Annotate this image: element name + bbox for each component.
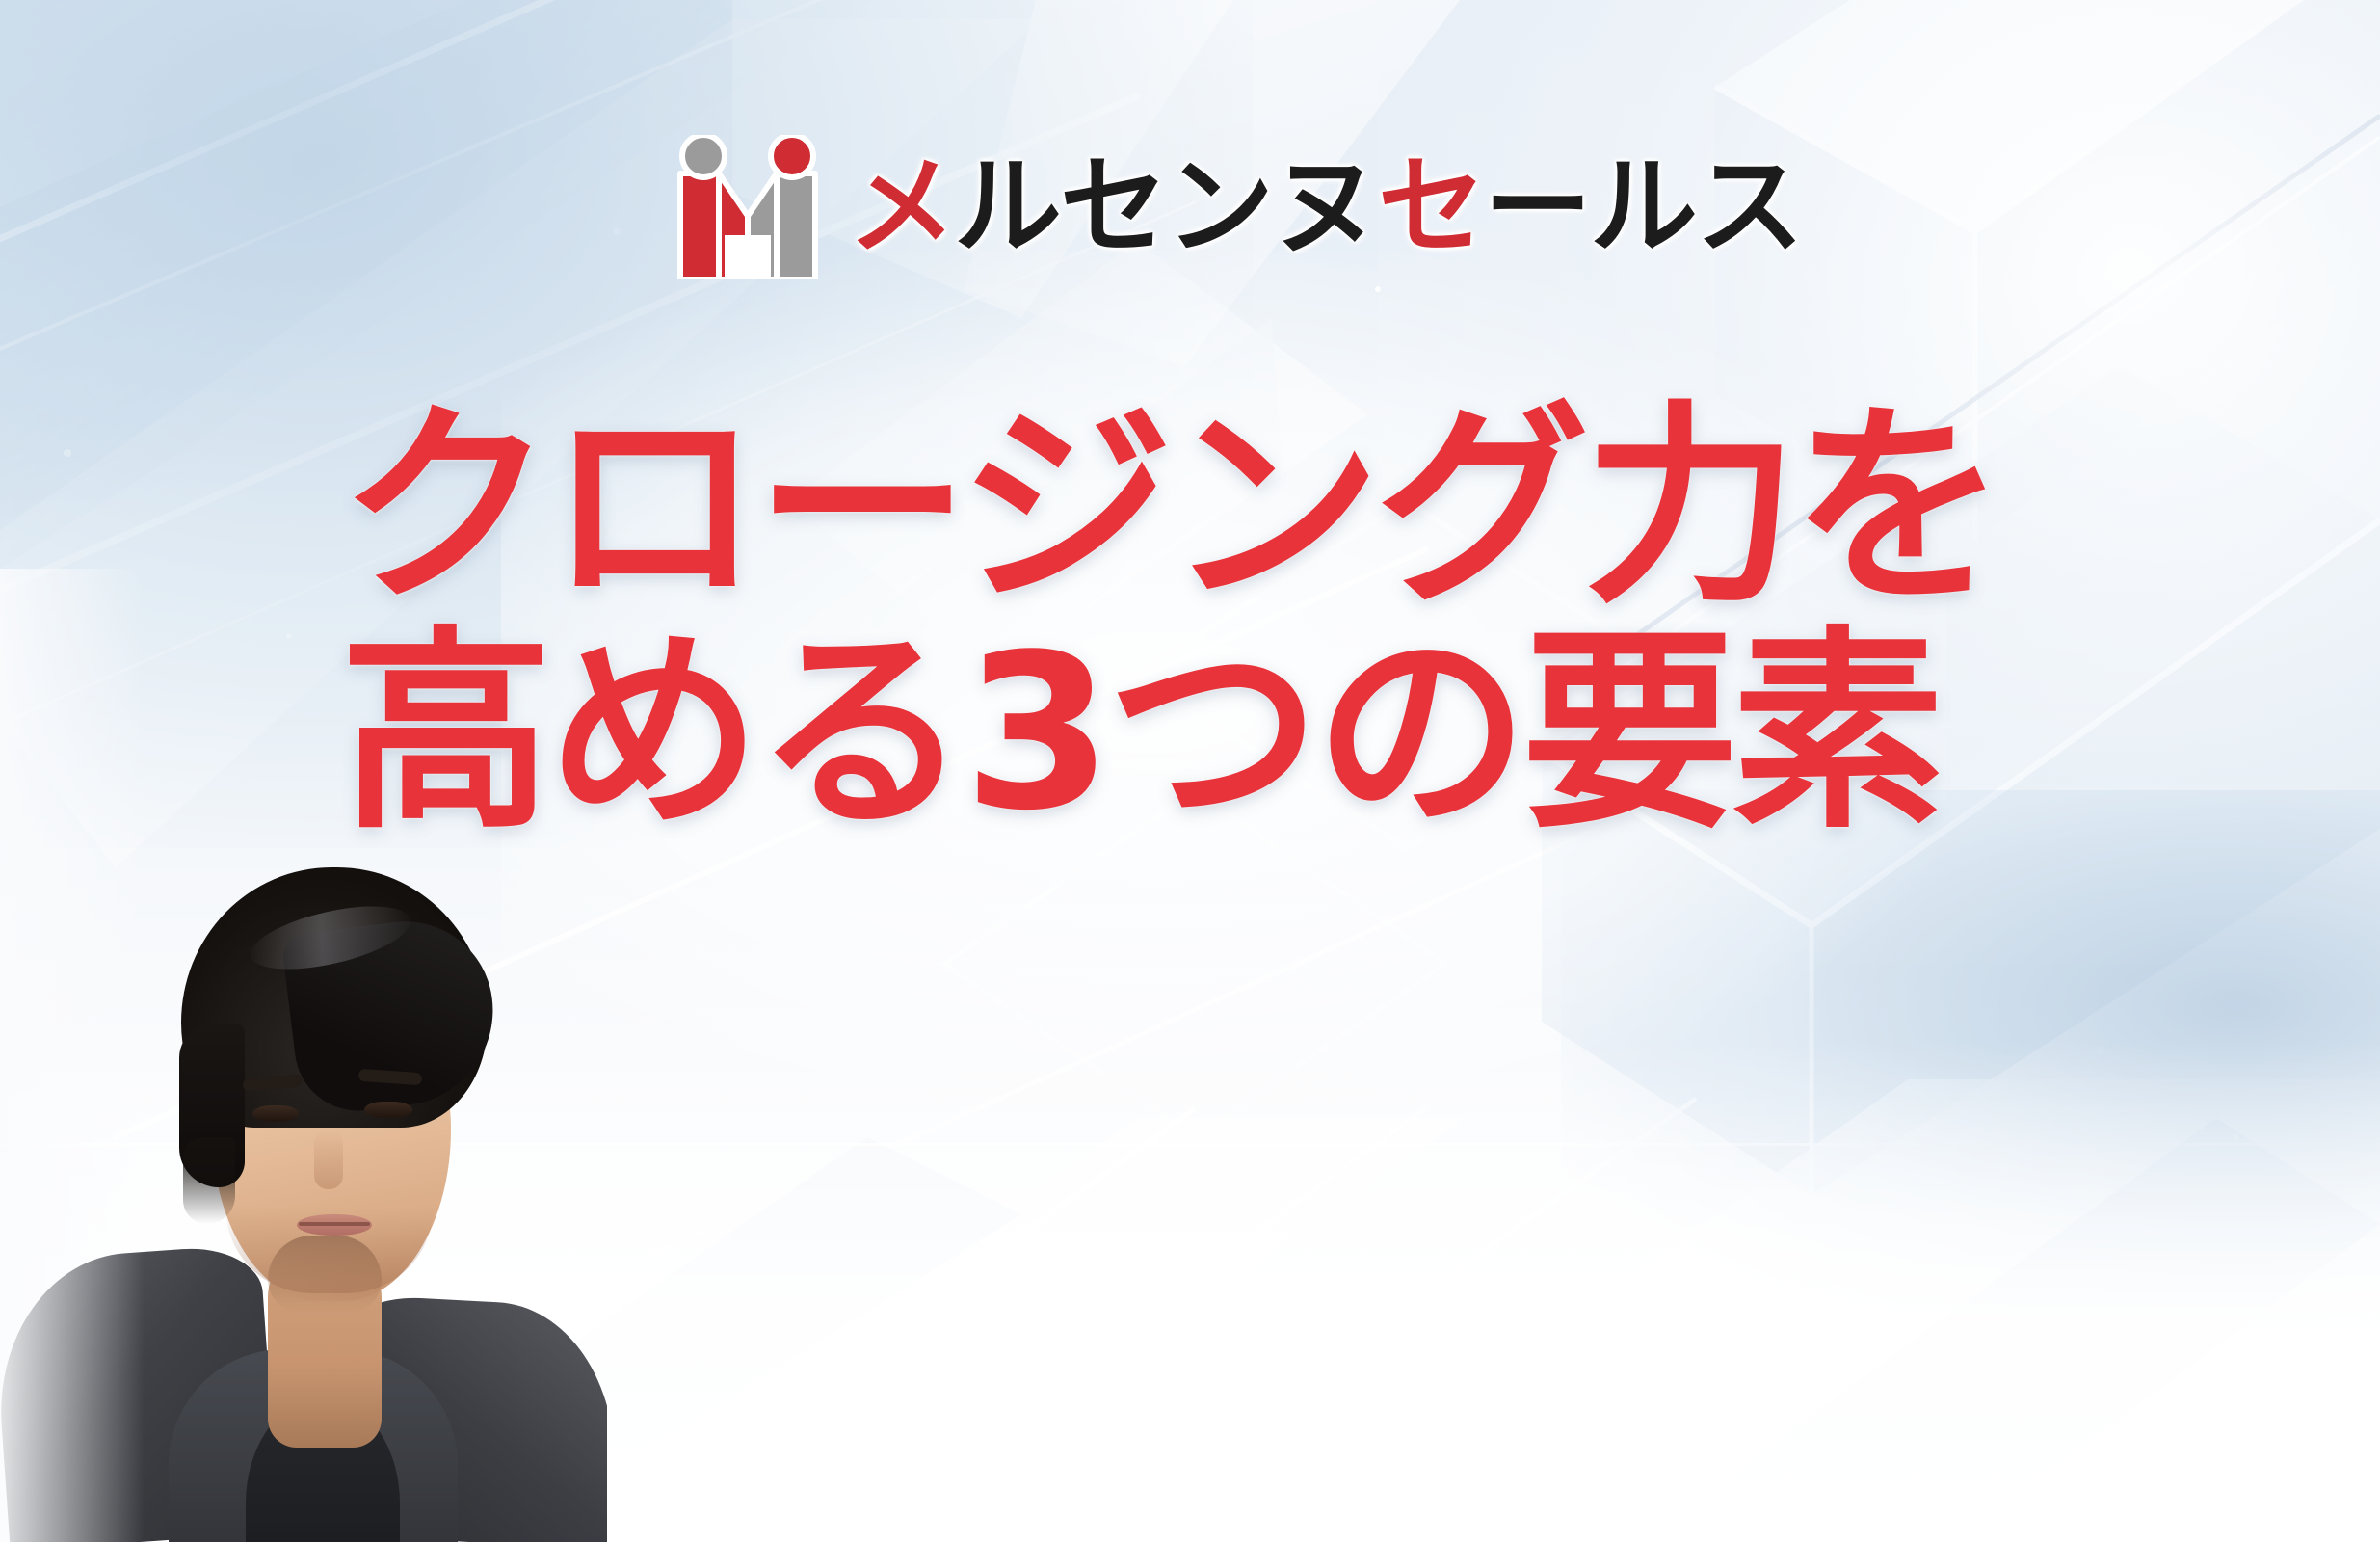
wordmark-seg-3: ールス xyxy=(1484,145,1802,270)
nose xyxy=(314,1130,343,1189)
wordmark-seg-0: メ xyxy=(848,145,954,270)
presenter-portrait xyxy=(0,569,607,1542)
brand-logo: メルセンヌセールス xyxy=(674,135,1802,279)
eye-right xyxy=(364,1102,412,1118)
lip-line xyxy=(299,1222,370,1226)
slide-canvas: メルセンヌセールス クロージング力を 高める3つの要素 xyxy=(0,0,2380,1542)
portrait-edge-fade xyxy=(0,569,145,1542)
hair-tip-left xyxy=(183,1137,235,1224)
eye-left xyxy=(252,1105,299,1122)
m-handshake-people-icon xyxy=(674,135,821,279)
wordmark-seg-1: ルセンヌ xyxy=(954,145,1378,270)
brand-wordmark: メルセンヌセールス xyxy=(848,153,1802,261)
wordmark-seg-2: セ xyxy=(1378,145,1484,270)
